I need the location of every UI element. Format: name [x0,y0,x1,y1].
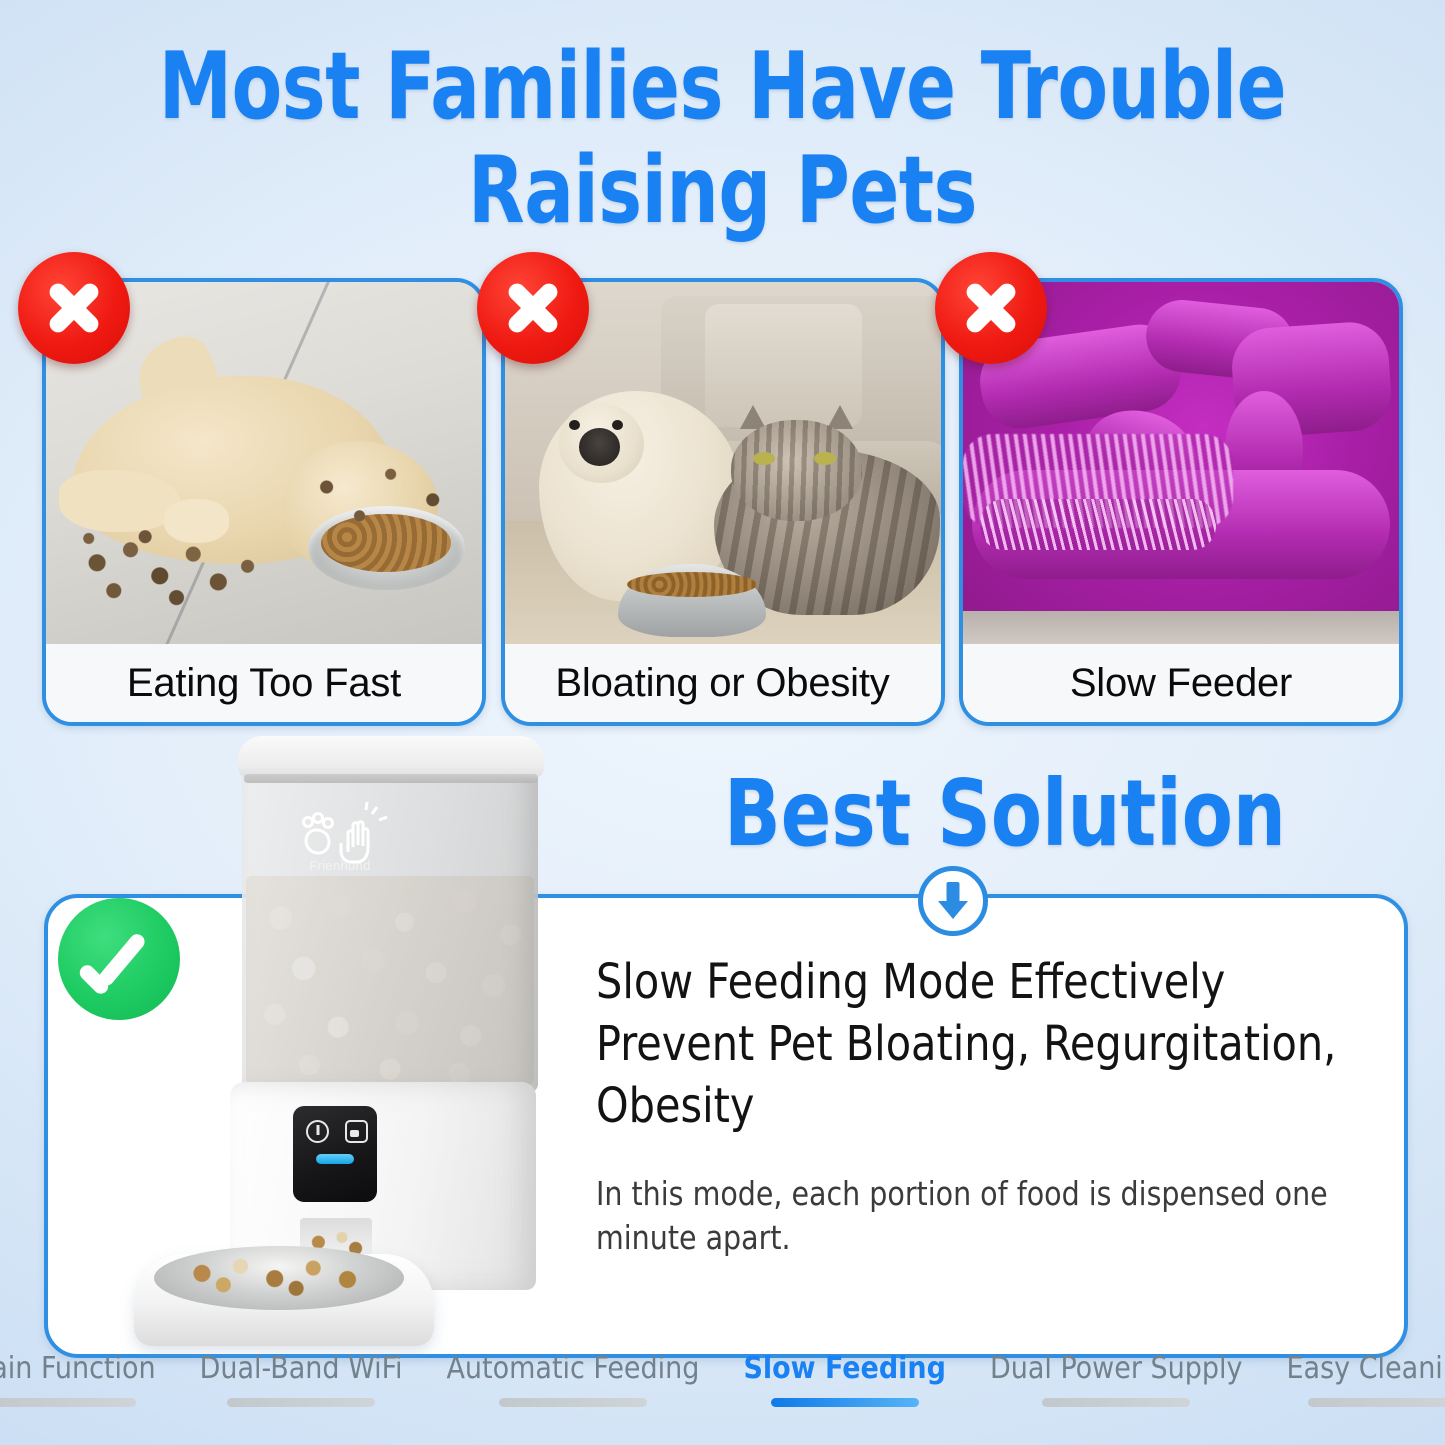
feed-button-icon[interactable] [345,1120,368,1143]
down-arrow-icon [918,866,988,936]
page-title-line-2: Raising Pets [87,138,1359,242]
tab-underline [0,1398,136,1407]
tab-label: Easy Cleaning [1287,1351,1445,1386]
tab-label: Main Function [0,1351,156,1386]
feeder-lid [238,736,544,778]
cat-eye-right [814,452,836,465]
problem-card-slow-feeder: Slow Feeder [959,278,1403,726]
status-led [316,1154,354,1164]
tab-label: Automatic Feeding [446,1351,699,1386]
tab-underline-active [771,1398,919,1407]
pug-eye-right [612,420,623,430]
tab-dual-band-wifi[interactable]: Dual-Band WiFi [178,1351,425,1407]
tab-easy-cleaning[interactable]: Easy Cleaning [1265,1351,1445,1407]
stray-kibble [290,463,473,543]
control-panel [293,1106,377,1202]
paw-high-five-logo-icon [286,800,396,866]
tab-label: Slow Feeding [743,1351,946,1386]
card-caption: Bloating or Obesity [505,644,941,722]
tab-label: Dual-Band WiFi [200,1351,403,1386]
best-solution-heading: Best Solution [641,768,1370,860]
page-title: Most Families Have Trouble Raising Pets [87,34,1359,242]
tab-dual-power-supply[interactable]: Dual Power Supply [968,1351,1265,1407]
product-brand-label: Frienhund [280,858,400,873]
floor-strip [963,611,1399,644]
card-caption: Slow Feeder [963,644,1399,722]
bowl-kibble [627,572,758,597]
spilled-kibble-pile [72,528,281,615]
tab-slow-feeding[interactable]: Slow Feeding [721,1351,968,1407]
tab-underline [1308,1398,1445,1407]
cat-head [731,420,862,521]
tab-underline [499,1398,647,1407]
tab-underline [1042,1398,1190,1407]
feature-tab-bar: Main Function Dual-Band WiFi Automatic F… [0,1351,1445,1423]
product-image-pet-feeder: Frienhund [110,726,550,1350]
tab-underline [227,1398,375,1407]
green-check-icon [58,898,180,1020]
chewed-damage [980,499,1215,550]
problem-cards: Eating Too Fast [42,278,1403,718]
product-infographic: Most Families Have Trouble Raising Pets [0,0,1445,1445]
pug-muzzle [579,428,619,466]
lid-seam [244,774,538,783]
red-x-icon [935,252,1047,364]
arrow-head [938,901,968,919]
power-button-icon[interactable] [306,1120,329,1143]
bowl-kibble [172,1254,386,1298]
solution-text-block: Slow Feeding Mode Effectively Prevent Pe… [596,952,1386,1261]
card-caption: Eating Too Fast [46,644,482,722]
tab-automatic-feeding[interactable]: Automatic Feeding [424,1351,721,1407]
page-title-line-1: Most Families Have Trouble [87,34,1359,138]
cat-eye-left [753,452,775,465]
cat-ear-right [827,405,853,429]
solution-subtext: In this mode, each portion of food is di… [596,1172,1354,1261]
tab-main-function[interactable]: Main Function [0,1351,178,1407]
red-x-icon [18,252,130,364]
tab-label: Dual Power Supply [990,1351,1243,1386]
problem-card-eating-too-fast: Eating Too Fast [42,278,486,726]
red-x-icon [477,252,589,364]
solution-headline: Slow Feeding Mode Effectively Prevent Pe… [596,952,1354,1138]
problem-card-bloating-or-obesity: Bloating or Obesity [501,278,945,726]
